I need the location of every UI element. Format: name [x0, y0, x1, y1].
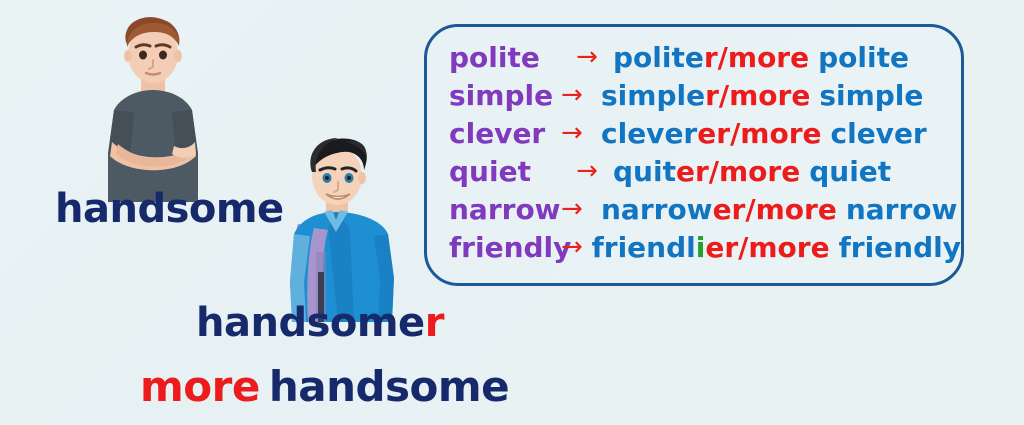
rule-base-word: narrow	[449, 193, 561, 226]
rule-row: narrow→narrower/morenarrow	[449, 193, 961, 230]
rule-comp-stem: simple	[601, 79, 705, 112]
rule-comparative: narrower/morenarrow	[601, 193, 957, 226]
rule-comp-stem: narrow	[601, 193, 713, 226]
rule-alt-base: quiet	[809, 155, 891, 188]
rule-comp-stem: friendl	[592, 231, 696, 264]
word-comparative-handsomer: handsomer	[196, 300, 444, 346]
rules-list: polite→politer/morepolite simple→simpler…	[427, 41, 961, 268]
rule-y-to-i-change: i	[696, 231, 706, 264]
rule-row: quiet→quiter/morequiet	[449, 155, 961, 192]
rule-comp-suffix: r	[704, 41, 718, 74]
rule-more-form: /more	[745, 193, 836, 226]
rule-row: simple→simpler/moresimple	[449, 79, 961, 116]
rule-comparative: cleverer/moreclever	[601, 117, 927, 150]
rule-comparative: friendlier/morefriendly	[592, 231, 961, 264]
rule-base-word: clever	[449, 117, 561, 150]
rule-arrow-icon: →	[561, 42, 613, 72]
rule-arrow-icon: →	[561, 232, 592, 262]
rule-comparative: simpler/moresimple	[601, 79, 923, 112]
rule-comparative: politer/morepolite	[613, 41, 909, 74]
rule-more-form: /more	[730, 117, 821, 150]
rule-more-form: /more	[709, 155, 800, 188]
rule-arrow-icon: →	[561, 118, 601, 148]
rule-comparative: quiter/morequiet	[613, 155, 891, 188]
rule-arrow-icon: →	[561, 194, 601, 224]
comparative-stem: handsome	[196, 300, 425, 346]
rule-row: friendly→friendlier/morefriendly	[449, 231, 961, 268]
rule-row: clever→cleverer/moreclever	[449, 117, 961, 154]
rule-comp-stem: quit	[613, 155, 676, 188]
comparative-suffix: r	[425, 300, 444, 346]
rule-comp-stem: clever	[601, 117, 697, 150]
rule-comp-suffix: er	[705, 231, 738, 264]
rule-arrow-icon: →	[561, 80, 601, 110]
rule-alt-base: narrow	[846, 193, 958, 226]
periphrastic-more-word: more	[140, 362, 260, 411]
rule-more-form: /more	[738, 231, 829, 264]
illustration-man-arms-crossed	[78, 14, 228, 204]
rule-base-word: simple	[449, 79, 561, 112]
rule-alt-base: polite	[818, 41, 909, 74]
rule-comp-suffix: er	[676, 155, 709, 188]
word-positive-handsome: handsome	[55, 186, 284, 232]
periphrastic-base-word: handsome	[269, 362, 509, 411]
rule-comp-stem: polite	[613, 41, 704, 74]
rule-row: polite→politer/morepolite	[449, 41, 961, 78]
rule-alt-base: simple	[819, 79, 923, 112]
rule-more-form: /more	[719, 79, 810, 112]
slide-canvas: handsome handsomer morehandsome polite→p…	[0, 0, 1024, 425]
rule-alt-base: clever	[831, 117, 927, 150]
rule-comp-suffix: er	[697, 117, 730, 150]
rule-alt-base: friendly	[839, 231, 961, 264]
rule-base-word: quiet	[449, 155, 561, 188]
rule-base-word: friendly	[449, 231, 561, 264]
rules-box: polite→politer/morepolite simple→simpler…	[424, 24, 964, 286]
word-periphrastic-more-handsome: morehandsome	[140, 362, 509, 411]
rule-arrow-icon: →	[561, 156, 613, 186]
rule-base-word: polite	[449, 41, 561, 74]
rule-more-form: /more	[718, 41, 809, 74]
rule-comp-suffix: er	[713, 193, 746, 226]
rule-comp-suffix: r	[705, 79, 719, 112]
